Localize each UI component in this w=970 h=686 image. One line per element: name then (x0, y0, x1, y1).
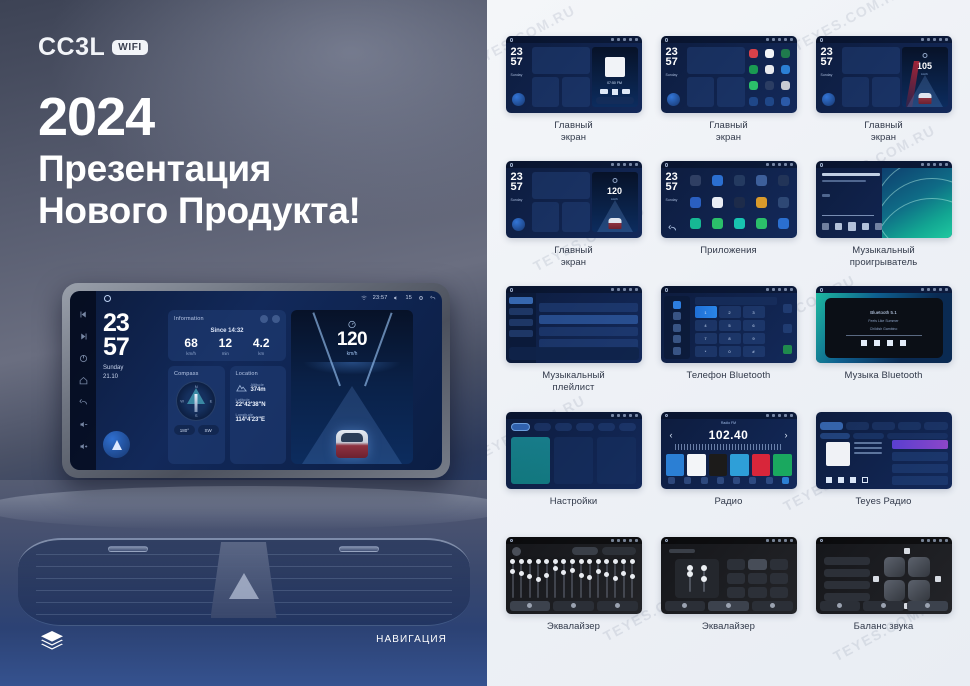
tab-about[interactable] (598, 423, 615, 431)
back-arrow-icon[interactable] (430, 295, 436, 301)
speed-gauge-icon (348, 320, 357, 329)
call-icon[interactable] (783, 345, 792, 354)
screen-status-bar: 23:57 15 (361, 295, 436, 301)
headline-year: 2024 (38, 90, 468, 145)
thumbnail-caption: Главный экран (554, 120, 593, 143)
list-item[interactable] (539, 315, 638, 324)
carplay-card[interactable] (554, 437, 593, 484)
loc-icon[interactable] (749, 477, 756, 484)
screenshot-thumbnail[interactable]: Radio FM ‹ › 102.40 (661, 412, 797, 489)
grid-cell: 2357 Sunday 105 km/h Главный экран (806, 36, 961, 161)
app-icon[interactable] (781, 81, 790, 90)
preset-item[interactable] (752, 454, 771, 476)
thumb-clock-minutes: 57 (666, 57, 678, 67)
altitude-value: 374m (251, 387, 266, 393)
app-icon[interactable] (778, 175, 789, 186)
eq-title (669, 549, 695, 553)
trip-stat: 4.2 km (253, 337, 270, 356)
dialpad-key[interactable]: 5 (719, 320, 741, 331)
thumb-clock-minutes: 57 (821, 57, 833, 67)
dialpad-icon[interactable] (673, 301, 681, 309)
play-pause-icon[interactable] (874, 340, 880, 346)
radio-toolbar[interactable] (666, 477, 792, 485)
hud-horizon (291, 362, 413, 384)
prev-track-icon[interactable] (826, 477, 832, 483)
home-indicator-icon[interactable] (104, 295, 111, 302)
eq-slider[interactable] (554, 559, 556, 598)
grid-cell: Teyes Радио (806, 412, 961, 537)
balance-right-icon[interactable] (935, 576, 941, 582)
dialpad[interactable]: 1 2 3 4 5 6 7 8 9 * 0 # (695, 306, 765, 357)
eq-slider[interactable] (614, 559, 616, 598)
next-track-icon[interactable] (850, 477, 856, 483)
filter-chip[interactable] (887, 433, 948, 439)
list-item[interactable] (539, 327, 638, 336)
dialpad-key[interactable]: 4 (695, 320, 717, 331)
eq-slider[interactable] (520, 559, 522, 598)
eq-slider[interactable] (597, 559, 599, 598)
eq-header[interactable] (512, 547, 636, 556)
app-icon[interactable] (781, 49, 790, 58)
status-volume: 15 (405, 295, 412, 301)
thumb-hud-speed: 105 (902, 61, 948, 71)
eq-slider[interactable] (529, 559, 531, 598)
phone-nav-rail[interactable] (664, 296, 690, 359)
navigation-caption: НАВИГАЦИЯ (376, 634, 447, 645)
thumb-clock-minutes: 57 (511, 57, 523, 67)
eq-slider[interactable] (631, 559, 633, 598)
preset-button[interactable] (727, 587, 746, 598)
eq-slider[interactable] (580, 559, 582, 598)
speaker-rear-left[interactable] (884, 580, 906, 601)
shuffle-icon[interactable] (822, 223, 829, 230)
eq-slider[interactable] (689, 565, 691, 592)
thumbnail-caption: Музыка Bluetooth (845, 370, 923, 382)
balance-left-icon[interactable] (873, 576, 879, 582)
playback-controls[interactable] (822, 222, 882, 231)
trip-stat: 12 min (219, 337, 232, 356)
navigation-button[interactable] (667, 93, 680, 106)
favorite-icon[interactable] (862, 477, 868, 483)
preset-item[interactable] (773, 454, 792, 476)
trip-stat-unit: km (253, 351, 270, 356)
preset-button[interactable] (748, 559, 767, 570)
grid-cell: Баланс звука (806, 537, 961, 662)
track-list[interactable] (539, 303, 638, 351)
compass-south-label: S (195, 413, 198, 418)
expand-icon[interactable] (272, 315, 280, 323)
preset-button[interactable] (727, 573, 746, 584)
tab-wifi[interactable] (511, 423, 530, 431)
clock-minutes: 57 (103, 336, 163, 360)
speaker-rear-right[interactable] (908, 580, 930, 601)
screenshot-thumbnail[interactable] (506, 286, 642, 363)
call-history-icon[interactable] (673, 335, 681, 343)
app-icon[interactable] (749, 97, 758, 106)
tab-fade[interactable] (597, 601, 638, 611)
pause-icon[interactable] (848, 222, 856, 231)
dialpad-key[interactable]: * (695, 346, 717, 357)
refresh-icon[interactable] (260, 315, 268, 323)
trip-stat-unit: min (219, 351, 232, 356)
eq-slider[interactable] (537, 559, 539, 598)
tab-eq[interactable] (510, 601, 551, 611)
back-arrow-icon[interactable] (668, 220, 677, 229)
seek-bar[interactable] (822, 215, 874, 217)
playback-controls[interactable] (861, 340, 906, 346)
app-icon[interactable] (734, 218, 745, 229)
list-item (824, 569, 870, 577)
latitude-value: 22°42'38"N (236, 402, 281, 408)
app-icon[interactable] (749, 65, 758, 74)
widget-row: Compass N S W E (168, 366, 286, 464)
eq-tabs[interactable] (510, 601, 638, 611)
screenshot-thumbnail[interactable] (506, 537, 642, 614)
app-icon[interactable] (690, 218, 701, 229)
thumb-clock-weekday: Sunday (666, 198, 678, 203)
more-card[interactable] (597, 437, 636, 484)
tab-sound[interactable] (534, 423, 551, 431)
bt-track-title: Feels Like Summer (868, 319, 898, 323)
dialpad-key[interactable]: 9 (743, 333, 765, 344)
status-time: 23:57 (373, 295, 388, 301)
screenshot-thumbnail[interactable]: Bluetooth 5.1 Feels Like Summer Childish… (816, 286, 952, 363)
list-item (824, 581, 870, 589)
balance-pad[interactable] (884, 557, 930, 601)
dialpad-key[interactable]: 6 (743, 320, 765, 331)
phone-number-field[interactable] (695, 297, 777, 305)
album-art (826, 442, 850, 466)
app-icon[interactable] (781, 65, 790, 74)
thumbnail-caption: Музыкальный плейлист (542, 370, 605, 393)
back-arrow-icon[interactable] (79, 398, 88, 407)
navigation-button[interactable] (103, 431, 130, 458)
presentation-slide: CC3L WIFI 2024 Презентация Нового Продук… (0, 0, 970, 686)
tab-display[interactable] (555, 423, 572, 431)
thumbnail-caption: Баланс звука (854, 621, 914, 633)
tab-sound[interactable] (708, 601, 749, 611)
mountain-icon (236, 383, 247, 392)
information-card[interactable]: Information Since 14:32 68 (168, 310, 286, 361)
grid-cell: Настройки (496, 412, 651, 537)
eq-slider[interactable] (703, 565, 705, 592)
app-shortcuts[interactable] (747, 46, 793, 108)
gear-icon[interactable] (766, 477, 773, 484)
trip-stat-value: 12 (219, 337, 232, 349)
next-track-icon[interactable] (79, 332, 88, 341)
logo-text: CC3L (38, 35, 105, 60)
preset-button[interactable] (748, 573, 767, 584)
radio-presets[interactable] (666, 454, 792, 476)
search-icon[interactable] (684, 477, 691, 484)
band-button[interactable] (668, 477, 675, 484)
app-icon[interactable] (756, 175, 767, 186)
navigation-button[interactable] (512, 93, 525, 106)
grid-cell: Эквалайзер (651, 537, 806, 662)
trip-stats: 68 km/h 12 min 4.2 km (174, 337, 280, 356)
widgets-column: Information Since 14:32 68 (168, 298, 286, 464)
screenshot-thumbnail[interactable] (816, 161, 952, 238)
tab-eq[interactable] (665, 601, 706, 611)
app-icon[interactable] (749, 49, 758, 58)
hud-speed-value: 120 (291, 330, 413, 349)
settings-tabs[interactable] (511, 423, 637, 431)
clock-weekday: Sunday (103, 364, 163, 373)
headline-line-1: Презентация (38, 148, 468, 189)
screenshot-thumbnail[interactable] (661, 537, 797, 614)
prev-track-icon[interactable] (835, 223, 842, 230)
app-icon[interactable] (781, 97, 790, 106)
contacts-icon[interactable] (673, 312, 681, 320)
dialpad-key[interactable]: 1 (695, 306, 717, 317)
media-widget[interactable]: 07:50 FM (592, 47, 638, 107)
next-track-icon[interactable] (862, 223, 869, 230)
preset-button[interactable] (727, 559, 746, 570)
hazard-triangle-icon (229, 573, 259, 599)
category-item[interactable] (509, 297, 533, 304)
grid-cell: Radio FM ‹ › 102.40 (651, 412, 806, 537)
tab-item[interactable] (924, 422, 947, 430)
app-icon[interactable] (749, 81, 758, 90)
list-item[interactable] (892, 476, 948, 485)
volume-icon (393, 295, 399, 301)
tab-item[interactable] (898, 422, 921, 430)
list-icon[interactable] (701, 477, 708, 484)
dialpad-key[interactable]: 0 (719, 346, 741, 357)
app-icon[interactable] (765, 97, 774, 106)
screenshot-thumbnail[interactable]: 2357 Sunday 120 km/h (506, 161, 642, 238)
grid-cell: 1 2 3 4 5 6 7 8 9 * 0 # (651, 286, 806, 411)
thumbnail-caption: Главный экран (709, 120, 748, 143)
tab-fade[interactable] (907, 601, 948, 611)
app-icon[interactable] (712, 218, 723, 229)
list-item[interactable] (892, 452, 948, 461)
eq-slider[interactable] (606, 559, 608, 598)
app-icon[interactable] (778, 218, 789, 229)
grid-cell: Эквалайзер (496, 537, 651, 662)
hud-car-icon (336, 430, 368, 458)
repeat-icon[interactable] (875, 223, 882, 230)
prev-track-icon[interactable] (79, 310, 88, 319)
tab-fade[interactable] (752, 601, 793, 611)
stop-icon[interactable] (887, 340, 893, 346)
teyes-radio-tabs[interactable] (820, 422, 948, 430)
navigation-button[interactable] (512, 218, 525, 231)
navigation-button[interactable] (822, 93, 835, 106)
preset-button[interactable] (770, 587, 789, 598)
category-item[interactable] (509, 319, 533, 326)
playback-controls[interactable] (826, 477, 868, 483)
tab-eq[interactable] (820, 601, 861, 611)
radio-frequency: 102.40 (661, 428, 797, 442)
hud-widget[interactable]: 120 km/h (592, 172, 638, 232)
head-unit-screen[interactable]: 23:57 15 23 57 Sunday 21.10 (70, 291, 442, 470)
dialpad-key[interactable]: 7 (695, 333, 717, 344)
thumb-clock-weekday: Sunday (511, 73, 523, 78)
list-item[interactable] (539, 303, 638, 312)
preset-item[interactable] (709, 454, 728, 476)
settings-cards[interactable] (511, 437, 637, 484)
app-icon[interactable] (756, 218, 767, 229)
eq-slider[interactable] (623, 559, 625, 598)
volume-up-icon[interactable] (79, 442, 88, 451)
speaker-front-right[interactable] (908, 557, 930, 578)
speaker-front-left[interactable] (884, 557, 906, 578)
stop-icon[interactable] (838, 477, 844, 483)
gear-icon[interactable] (418, 295, 424, 301)
star-icon[interactable] (783, 304, 792, 313)
app-icon[interactable] (778, 197, 789, 208)
home-icon[interactable] (79, 376, 88, 385)
phone-actions[interactable] (781, 298, 794, 359)
screenshot-thumbnail[interactable] (816, 412, 952, 489)
compass-card[interactable]: Compass N S W E (168, 366, 225, 464)
app-icon[interactable] (765, 81, 774, 90)
screen-side-rail[interactable] (70, 291, 96, 470)
information-card-title: Information (174, 316, 204, 322)
filter-chip[interactable] (853, 433, 884, 439)
filter-chip[interactable] (820, 433, 851, 439)
screenshot-thumbnail[interactable] (816, 537, 952, 614)
app-icon[interactable] (765, 65, 774, 74)
trip-since-label: Since 14:32 (174, 328, 280, 334)
volume-down-icon[interactable] (79, 420, 88, 429)
hero-footer: НАВИГАЦИЯ (0, 630, 487, 656)
tab-general[interactable] (576, 423, 593, 431)
compass-card-title: Compass (174, 371, 219, 377)
wifi-card[interactable] (511, 437, 550, 484)
screenshot-thumbnail[interactable]: 1 2 3 4 5 6 7 8 9 * 0 # (661, 286, 797, 363)
longitude-value: 114°4'23"E (236, 417, 281, 423)
shuffle-icon[interactable] (822, 194, 830, 197)
product-logo: CC3L WIFI (38, 35, 148, 60)
next-track-icon[interactable] (900, 340, 906, 346)
eq-slider[interactable] (512, 559, 514, 598)
eq-band-sliders[interactable] (512, 559, 634, 598)
eq-tabs[interactable] (665, 601, 793, 611)
gear-icon[interactable] (673, 347, 681, 355)
transfer-icon[interactable] (783, 324, 792, 333)
hazard-light-button[interactable] (211, 542, 277, 618)
app-icon[interactable] (765, 49, 774, 58)
eq-toggle[interactable] (572, 547, 598, 555)
dialpad-key[interactable]: 3 (743, 306, 765, 317)
eq-preset-icon[interactable] (512, 547, 521, 556)
screenshot-thumbnail[interactable]: 2357 Sunday (661, 161, 797, 238)
teyes-radio-filters[interactable] (820, 433, 948, 439)
thumbnail-caption: Приложения (700, 245, 757, 257)
list-item[interactable] (892, 440, 948, 449)
screenshot-thumbnail[interactable]: 2357 Sunday 07:50 FM (506, 36, 642, 113)
balance-up-icon[interactable] (904, 548, 910, 554)
track-title (822, 173, 880, 176)
apps-drawer[interactable] (687, 171, 793, 233)
app-icon[interactable] (734, 197, 745, 208)
power-icon[interactable] (79, 354, 88, 363)
location-card[interactable]: Location Altitude 374m (230, 366, 287, 464)
search-icon[interactable] (673, 324, 681, 332)
balance-value-list (824, 557, 870, 605)
dialpad-key[interactable]: 8 (719, 333, 741, 344)
tab-item[interactable] (846, 422, 869, 430)
stereo-icon[interactable] (717, 477, 724, 484)
dialpad-key[interactable]: 2 (719, 306, 741, 317)
clock-column: 23 57 Sunday 21.10 (103, 298, 163, 464)
thumbnail-caption: Teyes Радио (856, 496, 912, 508)
radio-tuning-scale[interactable] (675, 444, 783, 450)
bt-track-artist: Childish Gambino (870, 327, 898, 331)
eq-preset-grid[interactable] (727, 559, 789, 598)
app-icon[interactable] (712, 175, 723, 186)
eq-preset-chip[interactable] (602, 547, 636, 555)
eq-bass-treble-sliders[interactable] (675, 559, 719, 598)
thumbnail-caption: Главный экран (554, 245, 593, 268)
list-item (824, 593, 870, 601)
preset-button[interactable] (770, 559, 789, 570)
preset-button[interactable] (748, 587, 767, 598)
eq-slider[interactable] (563, 559, 565, 598)
category-item[interactable] (509, 308, 533, 315)
preset-button[interactable] (770, 573, 789, 584)
thumb-clock-minutes: 57 (511, 182, 523, 192)
bt-music-card[interactable]: Bluetooth 5.1 Feels Like Summer Childish… (825, 298, 943, 358)
screenshot-thumbnail[interactable] (506, 412, 642, 489)
preset-item[interactable] (666, 454, 685, 476)
eq-icon[interactable] (782, 477, 789, 484)
eq-slider[interactable] (571, 559, 573, 598)
app-icon[interactable] (690, 175, 701, 186)
eq-slider[interactable] (589, 559, 591, 598)
screenshot-grid: 2357 Sunday 07:50 FM (487, 0, 970, 686)
tab-sound[interactable] (863, 601, 904, 611)
hud-widget[interactable]: 105 km/h (902, 47, 948, 107)
app-icon[interactable] (756, 197, 767, 208)
mini-player[interactable] (509, 347, 639, 360)
prev-track-icon[interactable] (861, 340, 867, 346)
preset-item[interactable] (687, 454, 706, 476)
trip-stat-unit: km/h (184, 351, 197, 356)
radio-band-label: Radio FM (661, 421, 797, 425)
bt-version-label: Bluetooth 5.1 (870, 310, 897, 315)
eq-slider[interactable] (546, 559, 548, 598)
tab-system[interactable] (619, 423, 636, 431)
hud-panel[interactable]: 120 km/h (291, 310, 413, 464)
tab-item[interactable] (820, 422, 843, 430)
screenshot-thumbnail[interactable]: 2357 Sunday 105 km/h (816, 36, 952, 113)
music-visualizer (882, 168, 952, 238)
preset-item[interactable] (730, 454, 749, 476)
tab-sound[interactable] (553, 601, 594, 611)
thumb-clock-weekday: Sunday (666, 73, 678, 78)
grid-cell: Музыкальный плейлист (496, 286, 651, 411)
app-icon[interactable] (712, 197, 723, 208)
screenshot-thumbnail[interactable]: 2357 Sunday (661, 36, 797, 113)
dialpad-key[interactable]: # (743, 346, 765, 357)
category-item[interactable] (509, 330, 533, 337)
rds-icon[interactable] (733, 477, 740, 484)
thumbnail-caption: Эквалайзер (702, 621, 755, 633)
grid-cell: 2357 Sunday (651, 161, 806, 286)
app-icon[interactable] (690, 197, 701, 208)
tab-item[interactable] (872, 422, 895, 430)
eq-tabs[interactable] (820, 601, 948, 611)
list-item[interactable] (892, 464, 948, 473)
compass-north-label: N (195, 384, 198, 389)
app-icon[interactable] (734, 175, 745, 186)
seek-bar[interactable] (846, 335, 922, 336)
station-list[interactable] (892, 440, 948, 488)
vent-control-right (339, 546, 379, 552)
